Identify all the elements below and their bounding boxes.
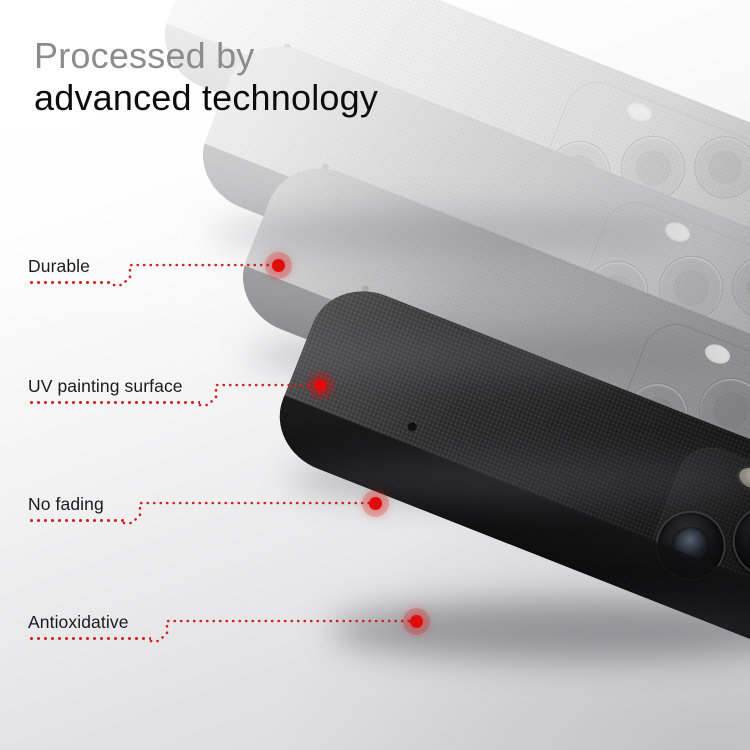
feature-callout-group: Durable UV painting surface No fading An… — [0, 0, 750, 750]
callout-marker-antioxidative — [410, 615, 423, 628]
product-feature-infographic: Processed by advanced technology Durable… — [0, 0, 750, 750]
leader-line-antioxidative — [0, 0, 750, 750]
